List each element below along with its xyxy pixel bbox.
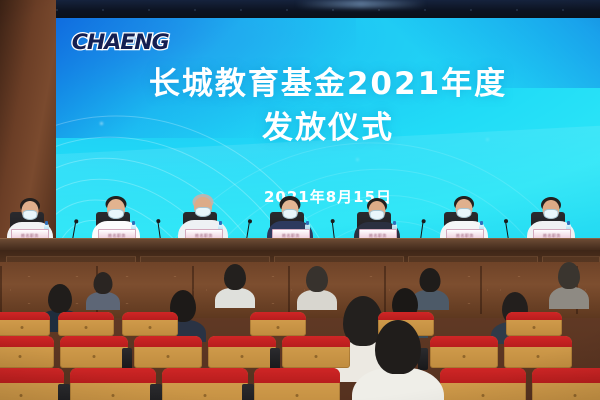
title-line-2: 发放仪式	[56, 106, 600, 150]
face-mask	[457, 208, 472, 218]
face-mask	[23, 210, 38, 220]
face-mask	[195, 207, 211, 217]
face-mask	[370, 210, 385, 220]
chaeng-logo: CHAENG	[72, 30, 169, 54]
title-line-1: 长城教育基金2021年度	[56, 62, 600, 106]
face-mask	[544, 209, 559, 219]
face-mask	[108, 209, 124, 219]
screen-title: 长城教育基金2021年度 发放仪式	[56, 62, 600, 150]
bezel-glow	[296, 0, 426, 8]
face-mask	[283, 209, 298, 219]
audience-member	[300, 266, 334, 308]
audience-member	[218, 264, 252, 306]
chaeng-logo-text: CHAENG	[72, 30, 169, 54]
audience-member	[368, 320, 428, 400]
audience-member	[88, 272, 118, 308]
ceremony-photo-scene: CHAENG 长城教育基金2021年度 发放仪式 2021年8月15日	[0, 0, 600, 400]
audience-member	[552, 262, 586, 306]
audience-area	[0, 262, 600, 400]
